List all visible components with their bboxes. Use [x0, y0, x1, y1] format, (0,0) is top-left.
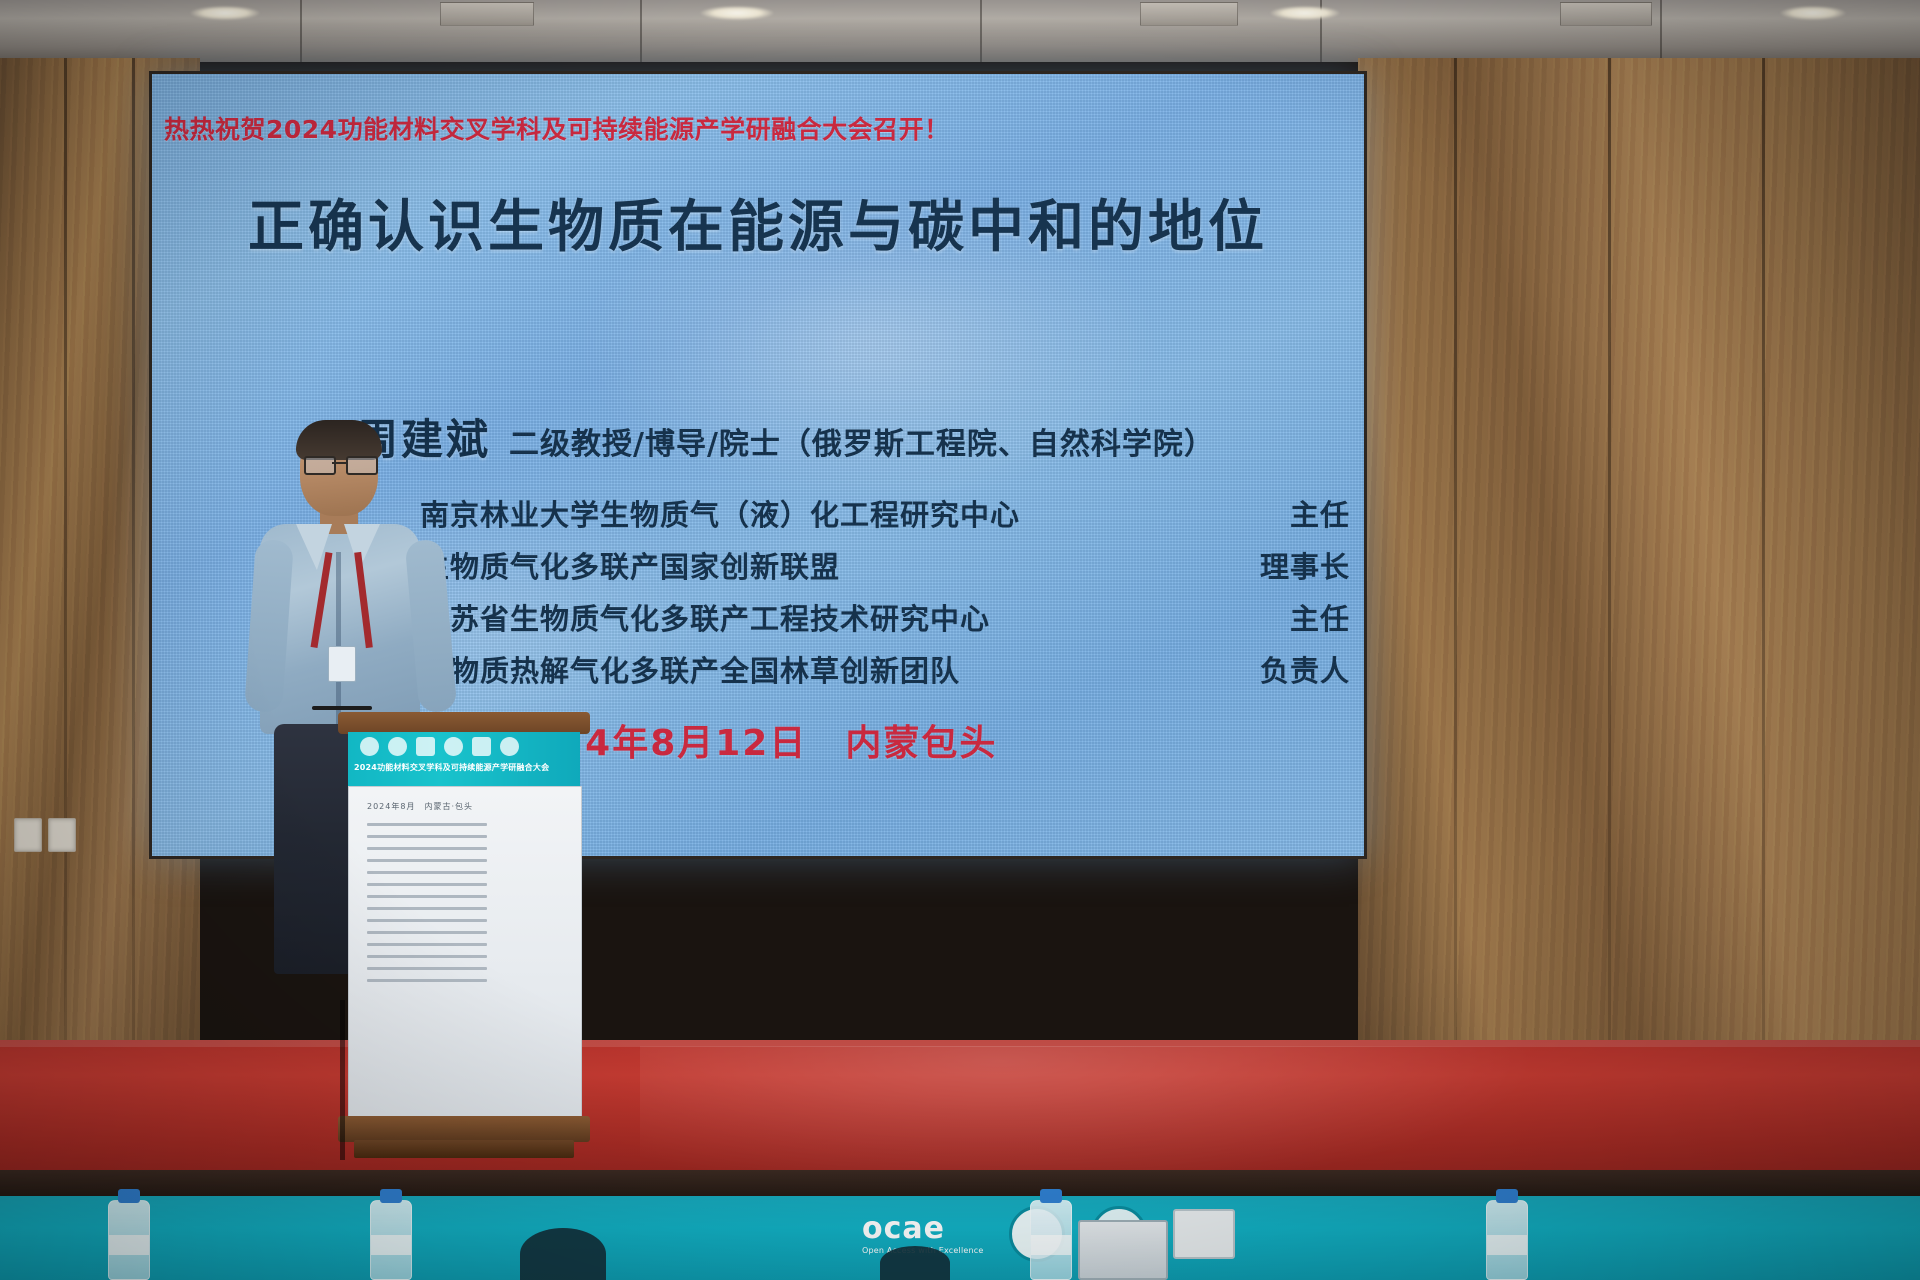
wall-right	[1358, 58, 1920, 1040]
affiliation-role: 主任	[1290, 596, 1350, 638]
ceiling-vent	[440, 2, 534, 26]
water-bottle	[1030, 1200, 1072, 1280]
glasses-icon	[304, 456, 374, 471]
slide-congratulation-banner: 热热祝贺2024功能材料交叉学科及可持续能源产学研融合大会召开！	[164, 110, 1264, 146]
speaker-hair	[296, 420, 382, 460]
podium-note-header: 2024年8月 内蒙古·包头	[367, 801, 473, 812]
org-logo-icon	[360, 737, 379, 756]
affiliation-org: 生物质气化多联产国家创新联盟	[420, 544, 840, 586]
podium-note-lines	[367, 823, 487, 991]
water-bottle	[1486, 1200, 1528, 1280]
affiliation-list: 南京林业大学生物质气（液）化工程研究中心 主任 生物质气化多联产国家创新联盟 理…	[420, 492, 1350, 700]
podium-banner-text: 2024功能材料交叉学科及可持续能源产学研融合大会	[354, 762, 580, 773]
water-bottle	[370, 1200, 412, 1280]
conference-photo-scene: 热热祝贺2024功能材料交叉学科及可持续能源产学研融合大会召开！ 正确认识生物质…	[0, 0, 1920, 1280]
wall-socket	[48, 818, 76, 852]
affiliation-role: 理事长	[1260, 544, 1350, 586]
ocae-wordmark: ocae	[862, 1211, 945, 1246]
name-badge	[328, 646, 356, 682]
foreground-backdrop-band: ocae Open Access with Excellence	[0, 1196, 1920, 1280]
ceiling-light	[1270, 6, 1340, 20]
ceiling	[0, 0, 1920, 62]
affiliation-org: 生物质热解气化多联产全国林草创新团队	[420, 648, 960, 690]
affiliation-row: 生物质气化多联产国家创新联盟 理事长	[420, 544, 1350, 586]
stage-front-edge	[0, 1170, 1920, 1198]
podium-banner: 2024功能材料交叉学科及可持续能源产学研融合大会	[348, 732, 580, 786]
audience-head-silhouette	[520, 1228, 606, 1280]
affiliation-role: 负责人	[1260, 648, 1350, 690]
podium-base	[338, 1116, 590, 1142]
microphone-icon	[312, 706, 372, 710]
podium-front-panel: 2024年8月 内蒙古·包头	[348, 786, 582, 1118]
affiliation-org: 江苏省生物质气化多联产工程技术研究中心	[420, 596, 990, 638]
wall-socket	[14, 818, 42, 852]
podium-logo-strip	[360, 737, 519, 756]
podium-top	[338, 712, 590, 734]
ceiling-light	[700, 6, 774, 20]
water-bottle	[108, 1200, 150, 1280]
affiliation-row: 生物质热解气化多联产全国林草创新团队 负责人	[420, 648, 1350, 690]
affiliation-row: 江苏省生物质气化多联产工程技术研究中心 主任	[420, 596, 1350, 638]
affiliation-org: 南京林业大学生物质气（液）化工程研究中心	[420, 492, 1020, 534]
laptop	[1078, 1220, 1168, 1280]
speaker-line: 周建斌 二级教授/博导/院士（俄罗斯工程院、自然科学院）	[356, 406, 1215, 467]
org-logo-icon	[444, 737, 463, 756]
org-logo-icon	[416, 737, 435, 756]
affiliation-role: 主任	[1290, 492, 1350, 534]
slide-title: 正确认识生物质在能源与碳中和的地位	[152, 182, 1364, 263]
affiliation-row: 南京林业大学生物质气（液）化工程研究中心 主任	[420, 492, 1350, 534]
ceiling-light	[1780, 6, 1846, 20]
ceiling-light	[190, 6, 260, 20]
ceiling-vent	[1140, 2, 1238, 26]
podium: 2024功能材料交叉学科及可持续能源产学研融合大会 2024年8月 内蒙古·包头	[338, 712, 590, 1182]
ceiling-vent	[1560, 2, 1652, 26]
org-logo-icon	[500, 737, 519, 756]
org-logo-icon	[472, 737, 491, 756]
podium-foot	[354, 1140, 574, 1158]
audience-head-silhouette	[880, 1246, 950, 1280]
speaker-titles: 二级教授/博导/院士（俄罗斯工程院、自然科学院）	[509, 419, 1215, 463]
org-logo-icon	[388, 737, 407, 756]
placard-icon	[1173, 1209, 1235, 1259]
